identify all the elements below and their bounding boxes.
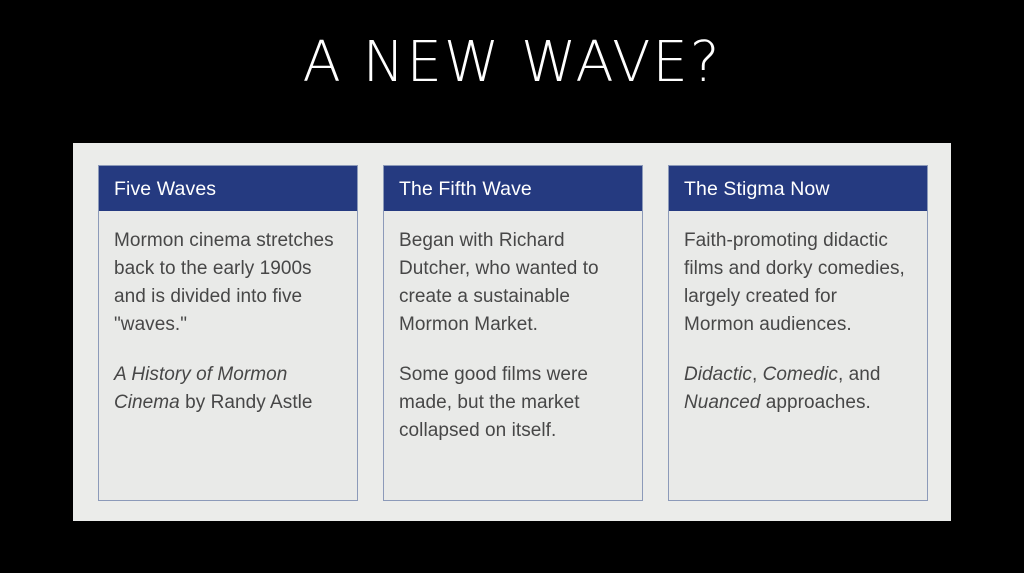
text-run: Mormon cinema stretches back to the earl… <box>114 230 334 335</box>
text-run: Faith-promoting didactic films and dorky… <box>684 230 905 335</box>
card-row: Five WavesMormon cinema stretches back t… <box>98 165 928 501</box>
card-body: Faith-promoting didactic films and dorky… <box>669 211 927 500</box>
page-title: A NEW WAVE? <box>0 30 1024 96</box>
card-paragraph: Some good films were made, but the marke… <box>399 361 627 445</box>
card-paragraph: Faith-promoting didactic films and dorky… <box>684 227 912 339</box>
card-paragraph: Mormon cinema stretches back to the earl… <box>114 227 342 339</box>
card-paragraph: A History of Mormon Cinema by Randy Astl… <box>114 361 342 417</box>
text-run: Began with Richard Dutcher, who wanted t… <box>399 230 599 335</box>
content-card: Five WavesMormon cinema stretches back t… <box>98 165 358 501</box>
card-paragraph: Began with Richard Dutcher, who wanted t… <box>399 227 627 339</box>
text-run: , <box>752 364 763 385</box>
content-card: The Fifth WaveBegan with Richard Dutcher… <box>383 165 643 501</box>
card-header-label: The Fifth Wave <box>399 177 532 201</box>
text-run: approaches. <box>760 392 870 413</box>
card-paragraph: Didactic, Comedic, and Nuanced approache… <box>684 361 912 417</box>
content-card: The Stigma NowFaith-promoting didactic f… <box>668 165 928 501</box>
card-header: Five Waves <box>99 166 357 211</box>
text-run-italic: Comedic <box>763 364 838 385</box>
slide-root: A NEW WAVE? Five WavesMormon cinema stre… <box>0 0 1024 573</box>
card-body: Mormon cinema stretches back to the earl… <box>99 211 357 500</box>
text-run: Some good films were made, but the marke… <box>399 364 588 441</box>
card-header: The Stigma Now <box>669 166 927 211</box>
card-header-label: Five Waves <box>114 177 216 201</box>
card-header: The Fifth Wave <box>384 166 642 211</box>
text-run: , and <box>838 364 881 385</box>
text-run-italic: Didactic <box>684 364 752 385</box>
text-run-italic: Nuanced <box>684 392 760 413</box>
text-run: by Randy Astle <box>180 392 313 413</box>
card-body: Began with Richard Dutcher, who wanted t… <box>384 211 642 500</box>
content-panel: Five WavesMormon cinema stretches back t… <box>73 143 951 521</box>
card-header-label: The Stigma Now <box>684 177 830 201</box>
